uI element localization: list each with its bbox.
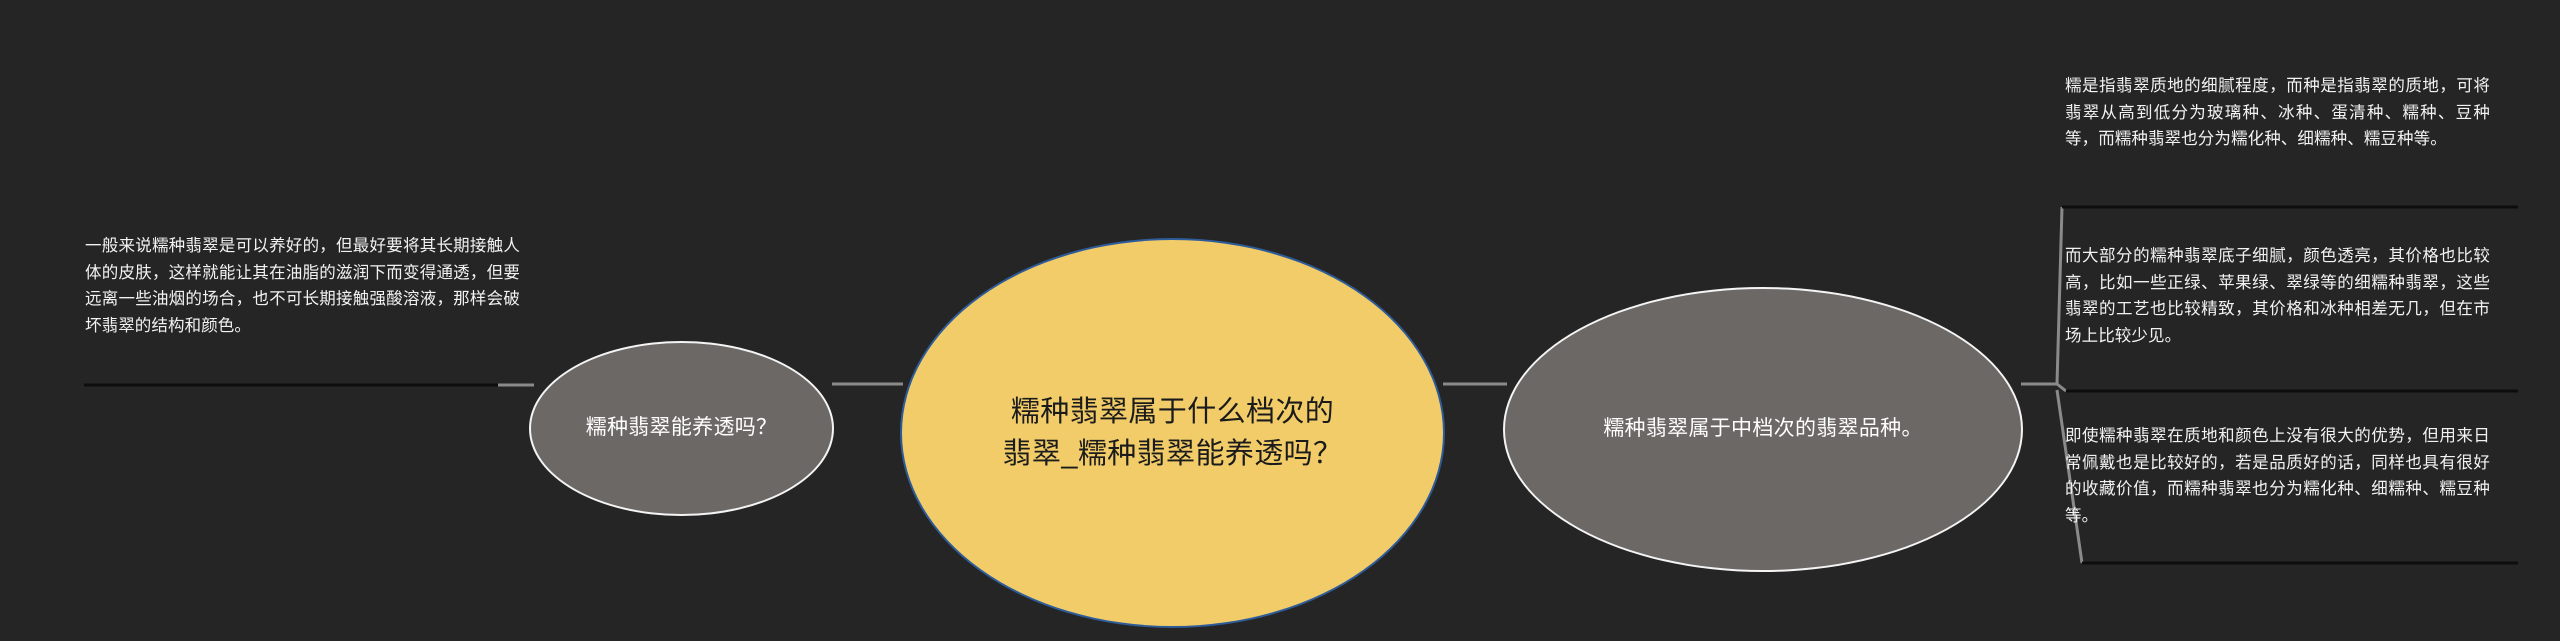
connector-hub-to-note-1 (2057, 207, 2062, 384)
node-left-question-label: 糯种翡翠能养透吗？ (576, 414, 788, 442)
note-right-2: 而大部分的糯种翡翠底子细腻，颜色透亮，其价格也比较高，比如一些正绿、苹果绿、翠绿… (2065, 243, 2490, 350)
connector-hub-to-note-2 (2057, 384, 2066, 391)
node-root-topic[interactable]: 糯种翡翠属于什么档次的 翡翠_糯种翡翠能养透吗？ (900, 238, 1445, 628)
note-right-1: 糯是指翡翠质地的细腻程度，而种是指翡翠的质地，可将翡翠从高到低分为玻璃种、冰种、… (2065, 73, 2490, 153)
note-left: 一般来说糯种翡翠是可以养好的，但最好要将其长期接触人体的皮肤，这样就能让其在油脂… (85, 233, 520, 340)
node-right-answer-label: 糯种翡翠属于中档次的翡翠品种。 (1593, 415, 1933, 443)
note-right-3: 即使糯种翡翠在质地和颜色上没有很大的优势，但用来日常佩戴也是比较好的，若是品质好… (2065, 423, 2490, 530)
node-root-topic-label: 糯种翡翠属于什么档次的 翡翠_糯种翡翠能养透吗？ (969, 391, 1377, 475)
mindmap-canvas: 一般来说糯种翡翠是可以养好的，但最好要将其长期接触人体的皮肤，这样就能让其在油脂… (0, 0, 2560, 641)
node-right-answer[interactable]: 糯种翡翠属于中档次的翡翠品种。 (1503, 287, 2023, 572)
node-left-question[interactable]: 糯种翡翠能养透吗？ (529, 341, 834, 516)
